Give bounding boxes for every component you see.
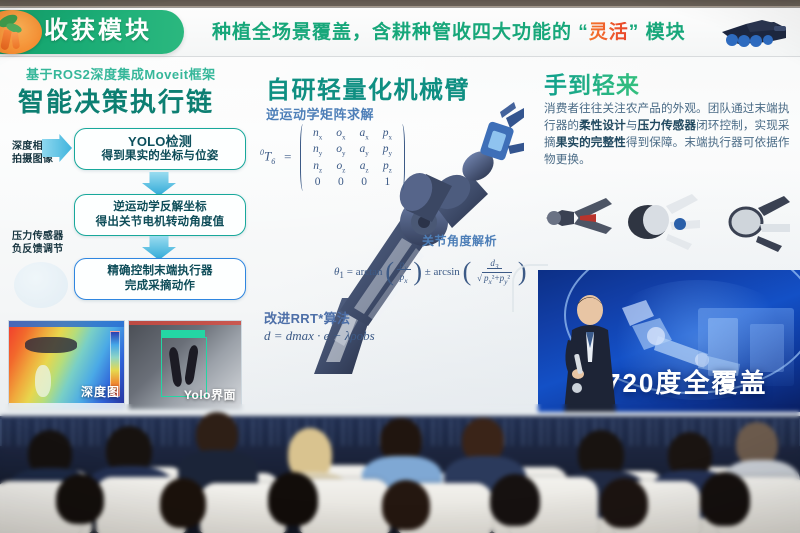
left-title: 智能决策执行链	[18, 82, 214, 119]
decorative-blob	[14, 262, 68, 308]
media-panels: 深度图 Yolo界面	[8, 312, 240, 408]
gripper-gallery	[540, 182, 792, 256]
flow-step-1: YOLO检测 得到果实的坐标与位姿	[74, 128, 246, 170]
depth-map-panel: 深度图	[8, 320, 125, 410]
matrix-bracket: nxox axpx nyoy aypy nzoz azpz 00 01	[300, 124, 405, 191]
matrix-row: nzoz azpz	[306, 159, 399, 175]
rrt-caption: 改进RRT*算法	[264, 308, 350, 327]
matrix-equals: =	[283, 149, 296, 165]
presenter-figure	[556, 288, 628, 412]
farm-implement-icon	[716, 16, 792, 52]
matrix-row: nyoy aypy	[306, 142, 399, 158]
slide-header: 收获模块 种植全场景覆盖，含耕种管收四大功能的 “灵活” 模块	[0, 8, 800, 57]
left-column: 基于ROS2深度集成Moveit框架 智能决策执行链 深度相机 拍摄图像 压力传…	[8, 62, 246, 308]
audience-area	[0, 404, 800, 533]
yolo-interface-label: Yolo界面	[184, 386, 236, 403]
center-title: 自研轻量化机械臂	[266, 70, 470, 105]
flow-arrow-down-1-icon	[142, 172, 176, 196]
demo-video-panel: 720度全覆盖	[538, 270, 800, 412]
right-body-text: 消费者往往关注农产品的外观。团队通过末端执行器的柔性设计与压力传感器闭环控制，实…	[544, 100, 790, 168]
flow-arrow-down-2-icon	[142, 236, 176, 260]
yolo-interface-panel: Yolo界面	[128, 320, 242, 410]
matrix-row: nxox axpx	[306, 126, 399, 142]
depth-map-label: 深度图	[81, 383, 120, 400]
joint-angle-caption: 关节角度解析	[422, 232, 497, 249]
rrt-formula: d = dmax · e − λρobs	[264, 328, 375, 344]
right-column: 手到轻来 消费者往往关注农产品的外观。团队通过末端执行器的柔性设计与压力传感器闭…	[540, 62, 792, 242]
slide-tagline: 种植全场景覆盖，含耕种管收四大功能的 “灵活” 模块	[212, 20, 686, 46]
gripper-three-finger-icon	[628, 194, 700, 250]
flow-feedback-label: 压力传感器 负反馈调节	[12, 230, 64, 256]
video-caption: 720度全覆盖	[606, 363, 767, 400]
screenshot-root: 收获模块 种植全场景覆盖，含耕种管收四大功能的 “灵活” 模块 基于ROS2深度…	[0, 0, 800, 533]
inverse-kinematics-matrix: 0T6 = nxox axpx nyoy aypy nzoz azpz	[260, 124, 405, 191]
gripper-claw-icon	[730, 196, 790, 252]
matrix-caption: 逆运动学矩阵求解	[266, 104, 374, 123]
joint-angle-formula: θ1 = arctan ( pypx ) ± arcsin ( d3√px²+p…	[334, 258, 527, 287]
left-subtitle: 基于ROS2深度集成Moveit框架	[26, 64, 216, 83]
matrix-row: 00 01	[306, 175, 399, 189]
audience-blur-overlay	[0, 404, 800, 533]
tagline-prefix: 种植全场景覆盖，含耕种管收四大功能的 “	[212, 22, 589, 43]
center-column: 自研轻量化机械臂 逆运动学矩阵求解 0T6 = nxox axpx nyoy a…	[256, 62, 524, 374]
gripper-two-finger-icon	[546, 198, 612, 234]
right-title: 手到轻来	[544, 66, 640, 100]
matrix-symbol: 0T6	[260, 148, 279, 166]
tagline-suffix: ” 模块	[629, 22, 686, 43]
ceiling-shadow	[0, 0, 800, 6]
tagline-highlight: 灵活	[589, 22, 629, 43]
flow-step-3: 精确控制末端执行器 完成采摘动作	[74, 258, 246, 300]
flow-step-2: 逆运动学反解坐标 得出关节电机转动角度值	[74, 194, 246, 236]
module-badge-label: 收获模块	[44, 17, 152, 44]
